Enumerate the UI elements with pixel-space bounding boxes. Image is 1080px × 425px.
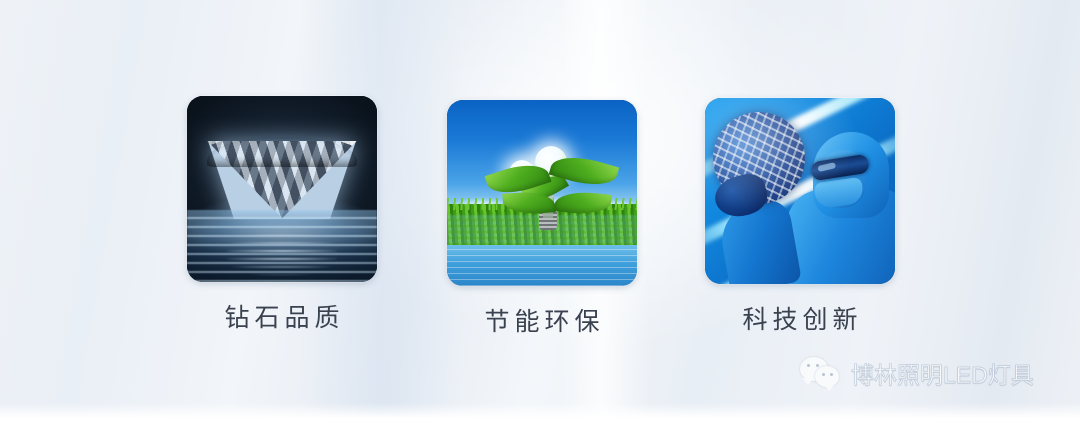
wechat-dot [822, 373, 825, 376]
wechat-dot [830, 373, 833, 376]
feature-card-energy-saving[interactable]: 节能环保 [447, 100, 637, 338]
feature-card-diamond-quality[interactable]: 钻石品质 [187, 96, 377, 334]
wechat-icon [800, 357, 842, 389]
diamond-on-water-image [187, 96, 377, 282]
wechat-dot [816, 364, 819, 367]
wechat-bubble-small [815, 366, 839, 387]
wechat-account-badge[interactable]: 博林照明LED灯具 [800, 356, 1034, 390]
eco-bulb-plant-image [447, 100, 637, 286]
wechat-dot [807, 364, 810, 367]
wechat-account-name: 博林照明LED灯具 [851, 356, 1034, 390]
energy-saving-caption: 节能环保 [447, 302, 637, 338]
water-surface [447, 245, 637, 286]
wafer-engineer-image [705, 98, 895, 284]
diamond-quality-thumbnail[interactable] [187, 96, 377, 282]
promo-banner: 钻石品质 [0, 0, 1080, 425]
feature-card-tech-innovation[interactable]: 科技创新 [705, 98, 895, 336]
tech-innovation-caption: 科技创新 [705, 300, 895, 336]
tech-innovation-thumbnail[interactable] [705, 98, 895, 284]
energy-saving-thumbnail[interactable] [447, 100, 637, 286]
image-highlight [705, 98, 895, 284]
image-vignette [187, 96, 377, 282]
diamond-quality-caption: 钻石品质 [187, 298, 377, 334]
